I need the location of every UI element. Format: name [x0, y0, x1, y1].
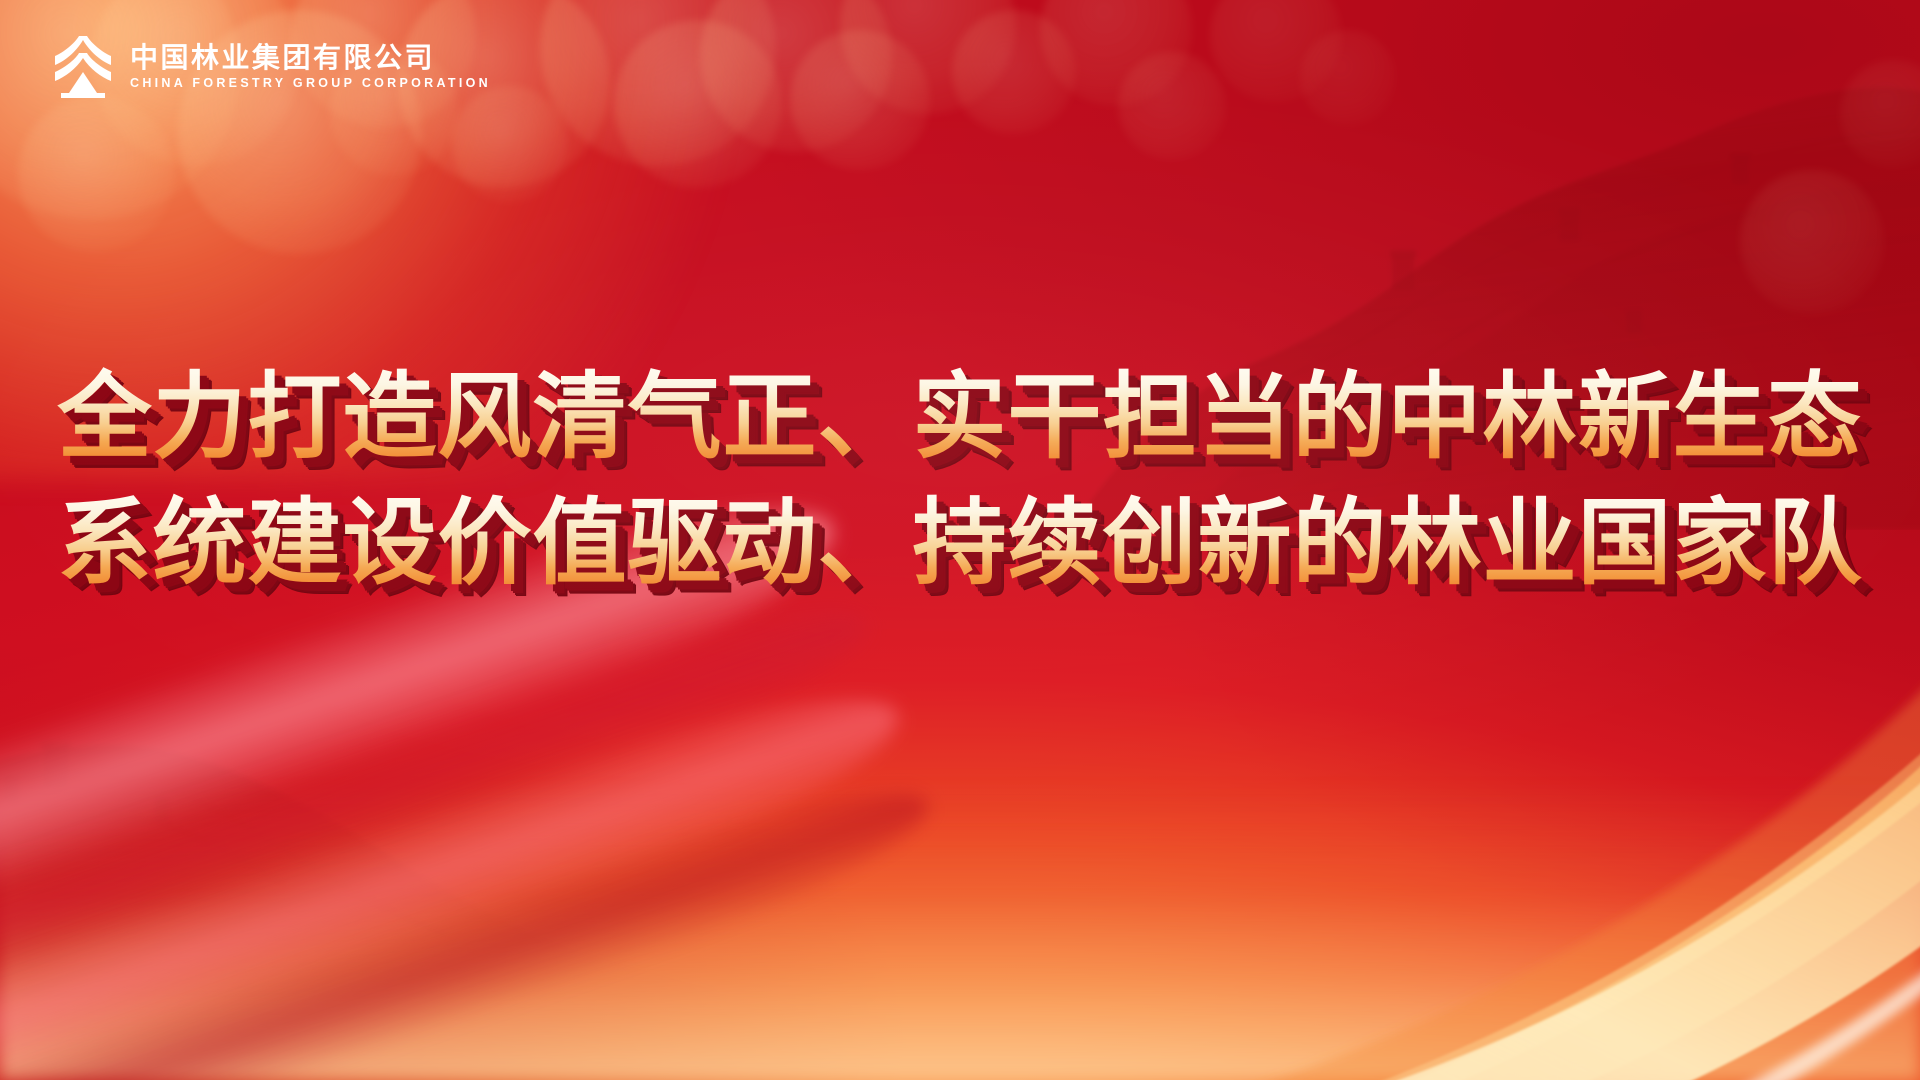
bokeh-circle [18, 96, 174, 252]
logo-block[interactable]: 中国林业集团有限公司 CHINA FORESTRY GROUP CORPORAT… [52, 36, 491, 98]
headline-block: 全力打造风清气正、实干担当的中林新生态 全力打造风清气正、实干担当的中林新生态 … [0, 355, 1920, 607]
headline-line-2: 系统建设价值驱动、持续创新的林业国家队 系统建设价值驱动、持续创新的林业国家队 [40, 481, 1880, 607]
gold-swoosh-right [860, 570, 1920, 1080]
logo-text: 中国林业集团有限公司 CHINA FORESTRY GROUP CORPORAT… [130, 44, 491, 90]
logo-company-name-en: CHINA FORESTRY GROUP CORPORATION [130, 77, 491, 90]
bokeh-circle [452, 86, 568, 202]
bokeh-circle [1118, 52, 1226, 160]
banner-poster: 中国林业集团有限公司 CHINA FORESTRY GROUP CORPORAT… [0, 0, 1920, 1080]
bokeh-circle [1740, 170, 1884, 314]
headline-line-1: 全力打造风清气正、实干担当的中林新生态 全力打造风清气正、实干担当的中林新生态 [40, 355, 1880, 481]
headline-line-1-text: 全力打造风清气正、实干担当的中林新生态 [57, 363, 1862, 472]
bokeh-circle [1300, 30, 1396, 126]
headline-line-2-text: 系统建设价值驱动、持续创新的林业国家队 [57, 489, 1862, 598]
logo-company-name-cn: 中国林业集团有限公司 [130, 44, 491, 72]
bokeh-circle [1840, 60, 1920, 168]
china-forestry-group-mountain-icon [52, 36, 114, 98]
